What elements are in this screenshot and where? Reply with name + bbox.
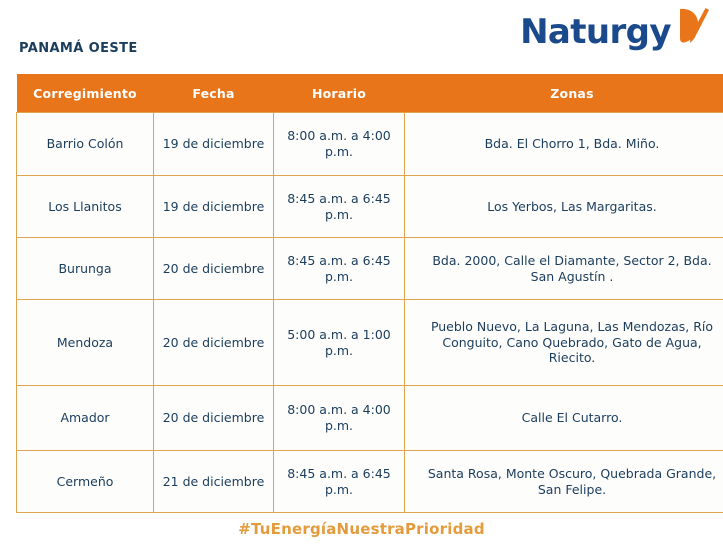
naturgy-flame-icon — [671, 5, 713, 51]
cell-fecha: 20 de diciembre — [154, 386, 274, 451]
table-row: Burunga 20 de diciembre 8:45 a.m. a 6:45… — [17, 238, 723, 300]
schedule-table: Corregimiento Fecha Horario Zonas Barrio… — [16, 74, 723, 513]
poster-root: Naturgy PANAMÁ OESTE Corregimiento Fecha… — [0, 0, 723, 550]
table-row: Cermeño 21 de diciembre 8:45 a.m. a 6:45… — [17, 451, 723, 513]
table-row: Mendoza 20 de diciembre 5:00 a.m. a 1:00… — [17, 300, 723, 386]
cell-fecha: 19 de diciembre — [154, 113, 274, 176]
naturgy-logo: Naturgy — [520, 8, 713, 56]
column-header-zonas: Zonas — [405, 74, 723, 113]
cell-zonas: Pueblo Nuevo, La Laguna, Las Mendozas, R… — [405, 300, 723, 386]
table-row: Los Llanitos 19 de diciembre 8:45 a.m. a… — [17, 176, 723, 238]
cell-zonas: Calle El Cutarro. — [405, 386, 723, 451]
cell-horario: 8:00 a.m. a 4:00 p.m. — [274, 113, 405, 176]
cell-corregimiento: Burunga — [17, 238, 154, 300]
table-header: Corregimiento Fecha Horario Zonas — [17, 74, 723, 113]
column-header-fecha: Fecha — [154, 74, 274, 113]
cell-corregimiento: Los Llanitos — [17, 176, 154, 238]
page-title: PANAMÁ OESTE — [19, 41, 138, 56]
schedule-table-container: Corregimiento Fecha Horario Zonas Barrio… — [16, 74, 707, 513]
table-body: Barrio Colón 19 de diciembre 8:00 a.m. a… — [17, 113, 723, 513]
cell-fecha: 20 de diciembre — [154, 238, 274, 300]
column-header-corregimiento: Corregimiento — [17, 74, 154, 113]
cell-corregimiento: Cermeño — [17, 451, 154, 513]
cell-horario: 8:00 a.m. a 4:00 p.m. — [274, 386, 405, 451]
cell-fecha: 21 de diciembre — [154, 451, 274, 513]
cell-zonas: Los Yerbos, Las Margaritas. — [405, 176, 723, 238]
cell-zonas: Bda. 2000, Calle el Diamante, Sector 2, … — [405, 238, 723, 300]
cell-horario: 8:45 a.m. a 6:45 p.m. — [274, 176, 405, 238]
cell-horario: 8:45 a.m. a 6:45 p.m. — [274, 451, 405, 513]
cell-fecha: 20 de diciembre — [154, 300, 274, 386]
column-header-horario: Horario — [274, 74, 405, 113]
footer-hashtag: #TuEnergíaNuestraPrioridad — [0, 520, 723, 538]
table-row: Barrio Colón 19 de diciembre 8:00 a.m. a… — [17, 113, 723, 176]
cell-zonas: Bda. El Chorro 1, Bda. Miño. — [405, 113, 723, 176]
cell-fecha: 19 de diciembre — [154, 176, 274, 238]
cell-zonas: Santa Rosa, Monte Oscuro, Quebrada Grand… — [405, 451, 723, 513]
cell-horario: 8:45 a.m. a 6:45 p.m. — [274, 238, 405, 300]
table-header-row: Corregimiento Fecha Horario Zonas — [17, 74, 723, 113]
cell-corregimiento: Mendoza — [17, 300, 154, 386]
cell-horario: 5:00 a.m. a 1:00 p.m. — [274, 300, 405, 386]
table-row: Amador 20 de diciembre 8:00 a.m. a 4:00 … — [17, 386, 723, 451]
cell-corregimiento: Amador — [17, 386, 154, 451]
naturgy-wordmark: Naturgy — [520, 15, 671, 49]
cell-corregimiento: Barrio Colón — [17, 113, 154, 176]
